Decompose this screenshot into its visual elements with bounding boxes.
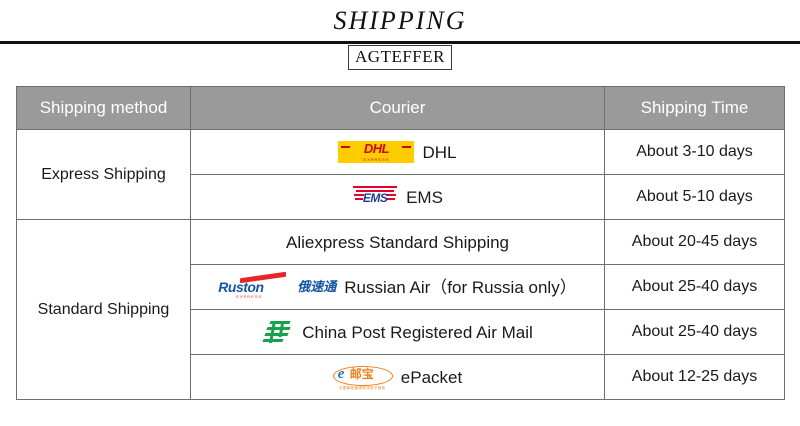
shipping-method-express: Express Shipping [17, 130, 191, 220]
courier-name: China Post Registered Air Mail [302, 324, 533, 341]
page-title: SHIPPING [0, 6, 800, 36]
courier-cell-epacket: e 邮宝 中国邮政速递物流电子商务 ePacket [191, 355, 605, 400]
courier-name: EMS [406, 189, 443, 206]
ruston-logo-text: Ruston [218, 280, 263, 294]
table-row: Express Shipping DHL EXPRESS DHL About 3… [17, 130, 785, 175]
courier-cell-russian-air: Ruston EXPRESS 俄速通 Russian Air（for Russi… [191, 265, 605, 310]
ruston-logo-subtext: EXPRESS [236, 294, 262, 299]
epacket-logo-subtext: 中国邮政速递物流电子商务 [339, 386, 386, 390]
ems-logo-text: EMS [352, 192, 398, 205]
brand-badge: AGTEFFER [348, 45, 452, 70]
ems-stripe [353, 186, 397, 188]
shipping-time: About 25-40 days [605, 310, 785, 355]
ems-logo: EMS [352, 185, 398, 209]
epacket-logo: e 邮宝 中国邮政速递物流电子商务 [333, 364, 393, 390]
dhl-logo-text: DHL [338, 142, 414, 155]
dhl-logo-subtext: EXPRESS [338, 157, 414, 162]
ruston-logo: Ruston EXPRESS 俄速通 [218, 274, 336, 300]
courier-cell-ems: EMS EMS [191, 175, 605, 220]
shipping-time: About 12-25 days [605, 355, 785, 400]
shipping-method-standard: Standard Shipping [17, 220, 191, 400]
shipping-time: About 5-10 days [605, 175, 785, 220]
courier-cell-china-post: China Post Registered Air Mail [191, 310, 605, 355]
column-header-shipping-time: Shipping Time [605, 87, 785, 130]
page-header: SHIPPING AGTEFFER [0, 0, 800, 86]
courier-name: ePacket [401, 369, 462, 386]
epacket-logo-chinese: 邮宝 [350, 368, 374, 381]
china-post-logo [262, 318, 294, 346]
courier-name: DHL [422, 144, 456, 161]
shipping-time: About 20-45 days [605, 220, 785, 265]
shipping-time: About 25-40 days [605, 265, 785, 310]
title-divider [0, 41, 800, 44]
column-header-courier: Courier [191, 87, 605, 130]
table-header-row: Shipping method Courier Shipping Time [17, 87, 785, 130]
shipping-table: Shipping method Courier Shipping Time Ex… [16, 86, 785, 400]
shipping-time: About 3-10 days [605, 130, 785, 175]
courier-cell-aliexpress: Aliexpress Standard Shipping [191, 220, 605, 265]
dhl-logo: DHL EXPRESS [338, 141, 414, 163]
column-header-shipping-method: Shipping method [17, 87, 191, 130]
ruston-logo-chinese: 俄速通 [297, 281, 336, 295]
courier-name: Russian Air（for Russia only） [344, 279, 576, 296]
shipping-table-container: Shipping method Courier Shipping Time Ex… [16, 86, 784, 400]
courier-cell-dhl: DHL EXPRESS DHL [191, 130, 605, 175]
courier-name: Aliexpress Standard Shipping [286, 234, 509, 251]
table-row: Standard Shipping Aliexpress Standard Sh… [17, 220, 785, 265]
epacket-logo-e: e [338, 367, 345, 382]
